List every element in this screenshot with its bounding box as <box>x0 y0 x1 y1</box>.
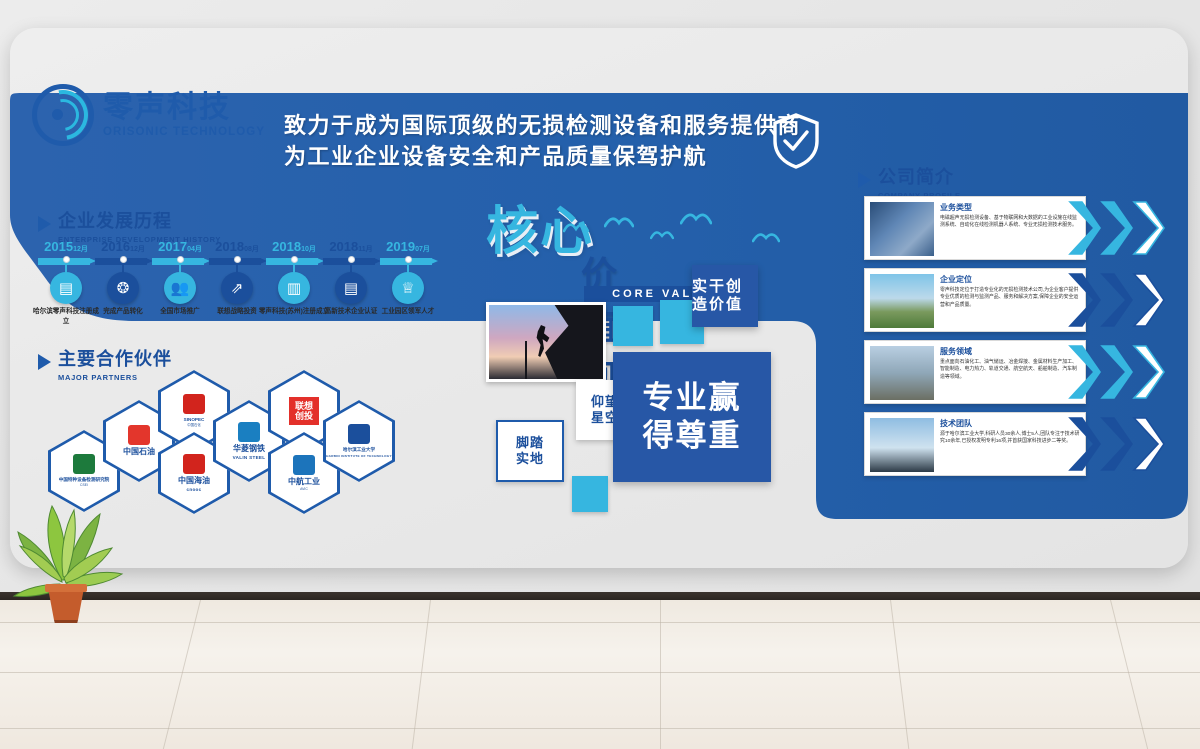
chevron-right-icon <box>1068 272 1102 328</box>
partner-name-en: VALIN STEEL <box>233 455 266 460</box>
timeline-year: 201704月 <box>152 240 208 253</box>
certificate-icon: ▤ <box>335 272 367 304</box>
timeline-year: 201811月 <box>323 240 379 253</box>
chevron-right-icon <box>1132 416 1166 472</box>
profile-card[interactable]: 企业定位零声科技定位于打造专业化的无损检测技术公司,为企业客户提供专业优质的检测… <box>848 268 1168 332</box>
value-box-text: 脚踏 实地 <box>516 435 544 468</box>
timeline-year: 201512月 <box>38 240 94 253</box>
value-box-text: 专业赢 得尊重 <box>643 379 742 455</box>
certificate-icon: ▤ <box>50 272 82 304</box>
trophy-icon: ♕ <box>392 272 424 304</box>
partner-name-cn: SINOPEC <box>184 417 205 422</box>
timeline-node <box>177 256 184 263</box>
profile-card[interactable]: 服务领域重点面向石油化工、油气储运、冶金焊接、金属材料生产加工、智能制造、电力热… <box>848 340 1168 404</box>
profile-card-list: 业务类型电磁超声无损检测设备、基于物联网和大数据的工业设施在线监测系统、自动化在… <box>848 196 1168 484</box>
shield-check-icon <box>772 113 820 169</box>
chevron-right-icon <box>1068 200 1102 256</box>
header-slogan: 致力于成为国际顶级的无损检测设备和服务提供商 为工业企业设备安全和产品质量保驾护… <box>284 110 801 172</box>
rock-climber-photo <box>486 302 606 382</box>
timeline-item[interactable]: 201811月▤高新技术企业认证 <box>323 240 379 253</box>
partner-name-cn: 中国海油 <box>178 477 210 486</box>
partner-name-en: cnooc <box>186 487 201 492</box>
timeline-node <box>234 256 241 263</box>
orisonic-logo-icon <box>32 84 94 146</box>
timeline-year: 201907月 <box>380 240 436 253</box>
slogan-line-1: 致力于成为国际顶级的无损检测设备和服务提供商 <box>284 110 801 141</box>
partner-name-cn: 中国石油 <box>123 448 155 457</box>
profile-card-desc: 零声科技定位于打造专业化的无损检测技术公司,为企业客户提供专业优质的检测与监测产… <box>940 287 1080 309</box>
partner-name-cn: 华菱钢铁 <box>233 445 265 454</box>
chevron-right-icon <box>1100 344 1134 400</box>
timeline-item[interactable]: 201612月❂完成产品转化 <box>95 240 151 253</box>
hit-logo <box>348 424 370 444</box>
timeline-item[interactable]: 201704月👥全国市场推广 <box>152 240 208 253</box>
timeline-node <box>405 256 412 263</box>
history-title-cn: 企业发展历程 <box>58 212 221 232</box>
gear-cycle-icon: ❂ <box>107 272 139 304</box>
decor-cyan-square-3 <box>613 306 653 346</box>
triangle-bullet-icon <box>858 172 871 188</box>
timeline-year: 201810月 <box>266 240 322 253</box>
partner-name-sub: CSEI <box>80 483 88 487</box>
timeline-node <box>291 256 298 263</box>
cnooc-logo <box>183 454 205 474</box>
profile-title-cn: 公司简介 <box>878 168 961 188</box>
building-icon: ▥ <box>278 272 310 304</box>
logo-name-en: ORISONIC TECHNOLOGY <box>103 126 265 138</box>
company-logo: 零声科技 ORISONIC TECHNOLOGY <box>32 84 265 146</box>
timeline-item[interactable]: 201808月⇗联想战略投资 <box>209 240 265 253</box>
chevron-right-icon <box>1100 416 1134 472</box>
partner-name-sub: 中国石化 <box>187 423 201 427</box>
industrial-machinery-photo <box>870 202 934 256</box>
partner-name-en: HARBIN INSTITUTE OF TECHNOLOGY <box>326 454 392 458</box>
decor-cyan-square-2 <box>572 476 608 512</box>
growth-icon: ⇗ <box>221 272 253 304</box>
team-silhouette-photo <box>870 418 934 472</box>
slogan-line-2: 为工业企业设备安全和产品质量保驾护航 <box>284 141 801 172</box>
partner-name-cn: 哈尔滨工业大学 <box>343 447 375 452</box>
partners-title-cn: 主要合作伙伴 <box>58 350 172 370</box>
timeline-year: 201612月 <box>95 240 151 253</box>
lenovo-capital-logo: 联想创投 <box>289 397 319 426</box>
logo-name-cn: 零声科技 <box>103 92 265 124</box>
floor <box>0 600 1200 749</box>
chevron-right-icon <box>1068 416 1102 472</box>
city-skyline-photo <box>870 274 934 328</box>
profile-card-title: 企业定位 <box>940 274 1080 285</box>
value-box-footing: 脚踏 实地 <box>496 420 564 482</box>
potted-plant <box>8 488 138 623</box>
profile-card-title: 服务领域 <box>940 346 1080 357</box>
profile-card-title: 技术团队 <box>940 418 1080 429</box>
timeline-year: 201808月 <box>209 240 265 253</box>
petrochina-logo <box>128 425 150 445</box>
timeline-node <box>348 256 355 263</box>
value-box-solid-blue: 实干创 造价值 <box>692 265 758 327</box>
timeline-node <box>63 256 70 263</box>
chevron-right-icon <box>1132 200 1166 256</box>
triangle-bullet-icon <box>38 354 51 370</box>
profile-card[interactable]: 业务类型电磁超声无损检测设备、基于物联网和大数据的工业设施在线监测系统、自动化在… <box>848 196 1168 260</box>
chevron-right-icon <box>1100 200 1134 256</box>
timeline-node <box>120 256 127 263</box>
chevron-right-icon <box>1068 344 1102 400</box>
profile-card-desc: 电磁超声无损检测设备、基于物联网和大数据的工业设施在线监测系统、自动化在线检测机… <box>940 215 1080 230</box>
avic-logo <box>293 455 315 475</box>
development-timeline: 201512月▤哈尔滨零声科技注册成立201612月❂完成产品转化201704月… <box>38 240 438 335</box>
sinopec-logo <box>183 394 205 414</box>
chevron-right-icon <box>1132 272 1166 328</box>
profile-card-desc: 重点面向石油化工、油气储运、冶金焊接、金属材料生产加工、智能制造、电力热力、轨道… <box>940 359 1080 381</box>
profile-card[interactable]: 技术团队源于哈尔滨工业大学,科研人员30余人,博士5人,团队专注于技术研究10余… <box>848 412 1168 476</box>
timeline-item[interactable]: 201810月▥零声科技(苏州)注册成立 <box>266 240 322 253</box>
profile-card-title: 业务类型 <box>940 202 1080 213</box>
chevron-right-icon <box>1132 344 1166 400</box>
partner-name-cn: 中国特种设备检测研究院 <box>59 477 110 482</box>
csei-logo <box>73 454 95 474</box>
partner-name-cn: 中航工业 <box>288 478 320 487</box>
wall-mural-scene: 零声科技 ORISONIC TECHNOLOGY 致力于成为国际顶级的无损检测设… <box>0 0 1200 749</box>
chevron-right-icon <box>1100 272 1134 328</box>
triangle-bullet-icon <box>38 216 51 232</box>
partner-name-sub: AVIC <box>300 487 308 491</box>
timeline-item[interactable]: 201907月♕工业园区领军人才 <box>380 240 436 253</box>
refinery-plant-photo <box>870 346 934 400</box>
value-box-text: 实干创 造价值 <box>692 278 758 315</box>
valin-logo <box>238 422 260 442</box>
timeline-label: 工业园区领军人才 <box>372 307 444 317</box>
profile-card-desc: 源于哈尔滨工业大学,科研人员30余人,博士5人,团队专注于技术研究10余年,已授… <box>940 431 1080 446</box>
value-box-main: 专业赢 得尊重 <box>613 352 771 482</box>
timeline-item[interactable]: 201512月▤哈尔滨零声科技注册成立 <box>38 240 94 253</box>
people-icon: 👥 <box>164 272 196 304</box>
